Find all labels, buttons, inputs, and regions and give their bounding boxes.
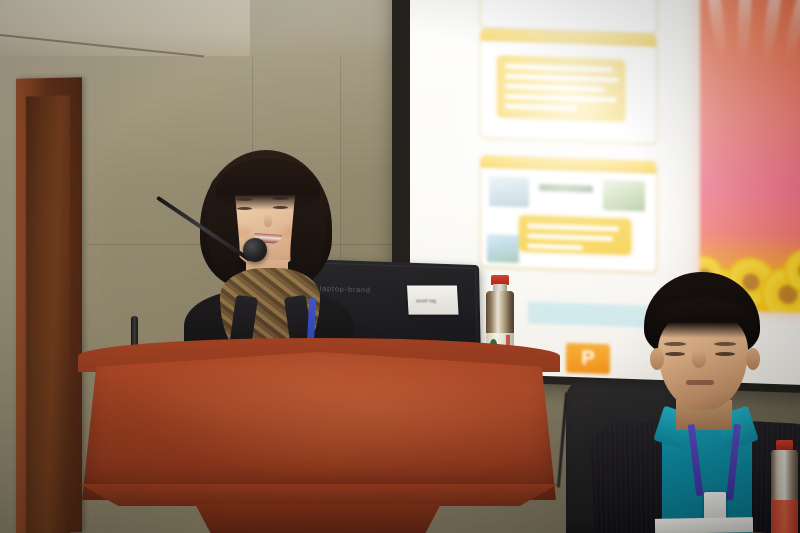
- lectern-front-panel: [82, 352, 556, 500]
- slide-photo: [487, 234, 519, 263]
- photograph-scene: 2: [0, 0, 800, 533]
- door-frame[interactable]: [16, 77, 82, 533]
- slide-body: [481, 168, 656, 272]
- water-bottle-table[interactable]: [770, 440, 800, 533]
- door-edge-highlight: [70, 85, 75, 531]
- lectern: [78, 332, 560, 533]
- lectern-lower-lip: [80, 484, 558, 506]
- man-eye-right: [715, 352, 735, 356]
- slide-text-line: [505, 94, 617, 103]
- man-mouth: [686, 380, 714, 385]
- microphone-head[interactable]: [243, 238, 267, 262]
- slide-content-box: [497, 55, 625, 121]
- sunflower-banner: [700, 0, 800, 313]
- banner-ray-icon: [704, 0, 730, 60]
- lectern-wood-grain: [82, 352, 556, 500]
- man-ear-left: [650, 348, 664, 370]
- man-eyebrow-right: [714, 342, 736, 346]
- door-panel: [26, 96, 70, 533]
- slide-body: [481, 41, 656, 143]
- banner-ray-icon: [760, 0, 786, 62]
- lectern-base: [190, 504, 446, 533]
- slide-text-line: [505, 104, 577, 112]
- banner-ray-icon: [781, 0, 800, 63]
- bottle-label: [771, 500, 798, 533]
- slide-content-box: [519, 215, 631, 255]
- man-nose: [692, 350, 706, 368]
- man-eyebrow-left: [664, 342, 686, 346]
- laptop-asset-sticker-text: asset tag: [416, 299, 437, 305]
- slide-photo: [603, 180, 645, 211]
- slide-text-line: [505, 64, 613, 73]
- slide-photo: [489, 176, 529, 207]
- banner-ray-icon: [736, 0, 752, 61]
- slide-photo-caption: [539, 184, 593, 193]
- man-ear-right: [746, 348, 760, 370]
- speaker-nose: [264, 214, 272, 227]
- laptop-asset-sticker: asset tag: [407, 286, 459, 315]
- slide-text-line: [505, 84, 605, 92]
- man-eye-left: [665, 352, 685, 356]
- slide-thumbnail[interactable]: [480, 28, 657, 144]
- slide-text-line: [505, 74, 619, 83]
- slide-thumbnail[interactable]: [480, 155, 657, 273]
- table-papers[interactable]: [655, 517, 753, 533]
- slide-text-line: [527, 223, 619, 231]
- slide-text-line: [527, 233, 613, 241]
- slide-text-line: [527, 243, 583, 250]
- speaker-figure: [176, 150, 376, 350]
